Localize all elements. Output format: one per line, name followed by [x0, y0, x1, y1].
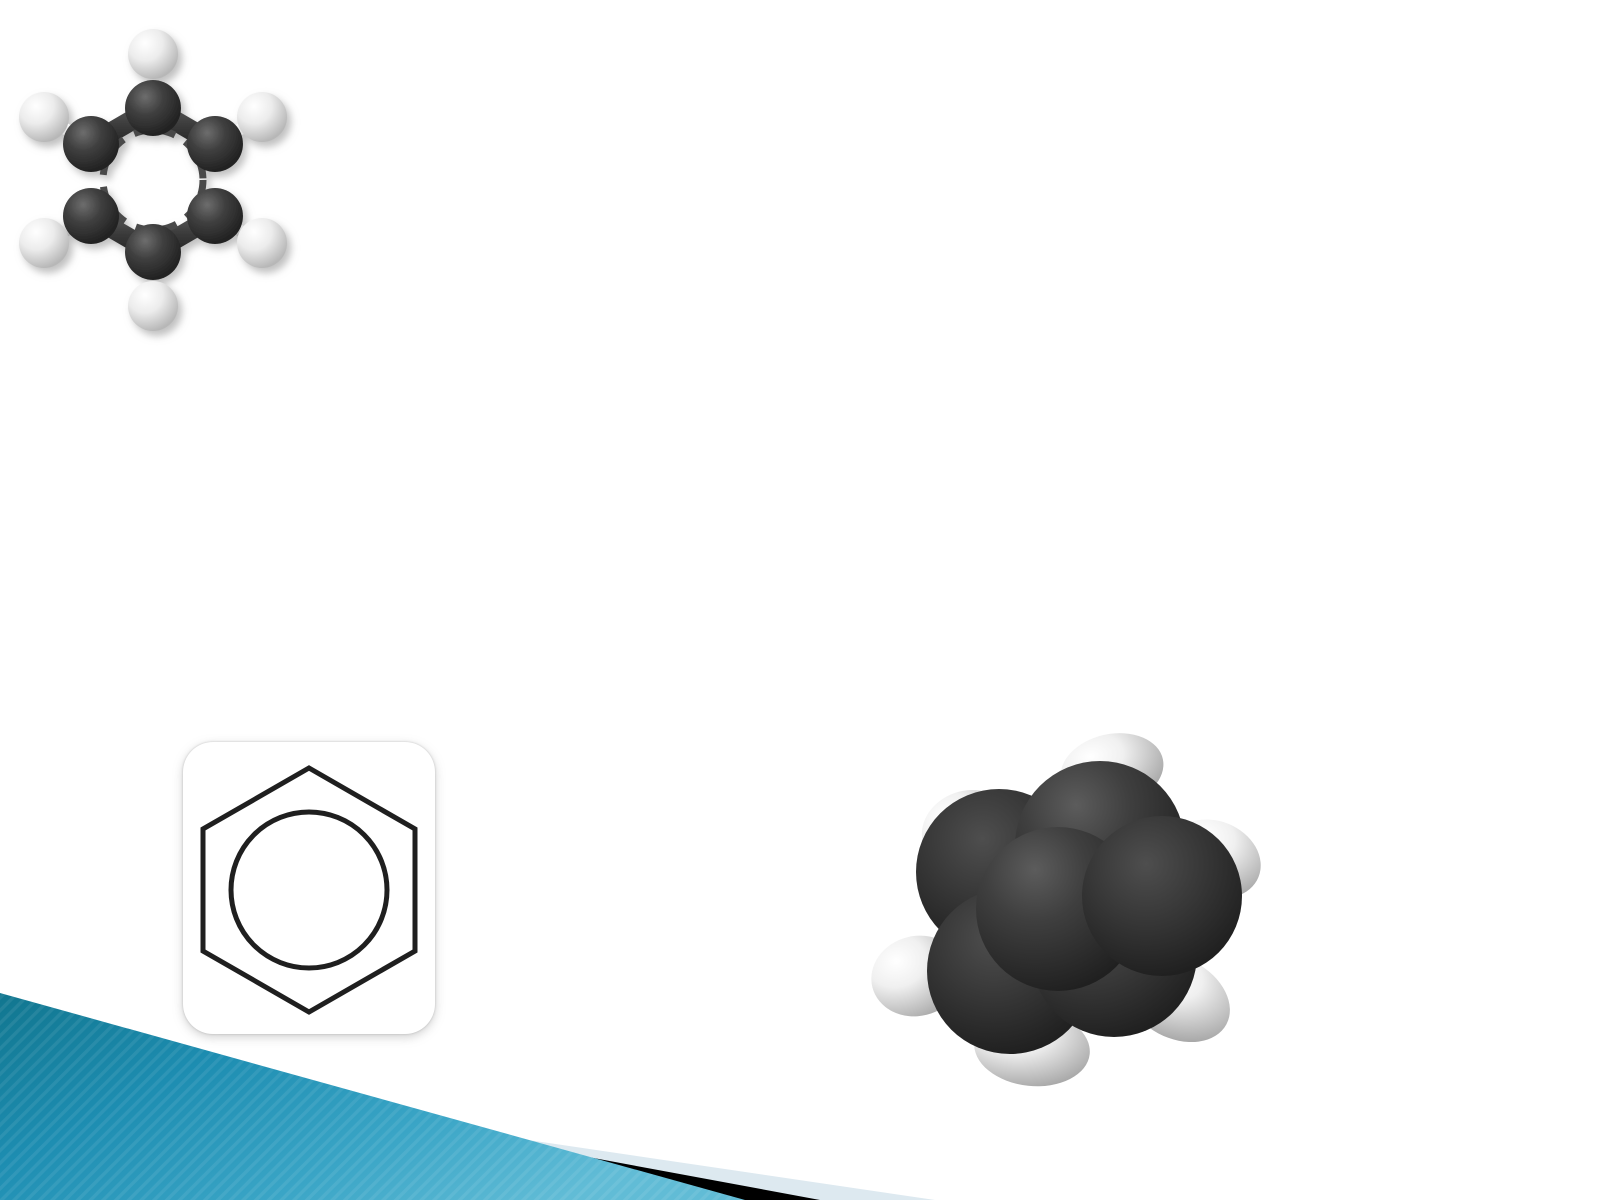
slide-canvas: Структурна формула, запропонована Кекуле… — [0, 0, 1600, 1200]
aromatic-circle — [231, 812, 387, 968]
skeletal-formula-svg — [183, 742, 435, 1034]
ball-and-stick-svg — [0, 0, 306, 358]
hydrogen-spheres — [19, 29, 287, 331]
space-filling-model — [862, 726, 1262, 1092]
space-filling-svg — [862, 726, 1262, 1092]
ball-and-stick-frame — [0, 0, 386, 438]
skeletal-formula-card — [183, 742, 435, 1034]
benzene-hexagon — [203, 768, 415, 1012]
